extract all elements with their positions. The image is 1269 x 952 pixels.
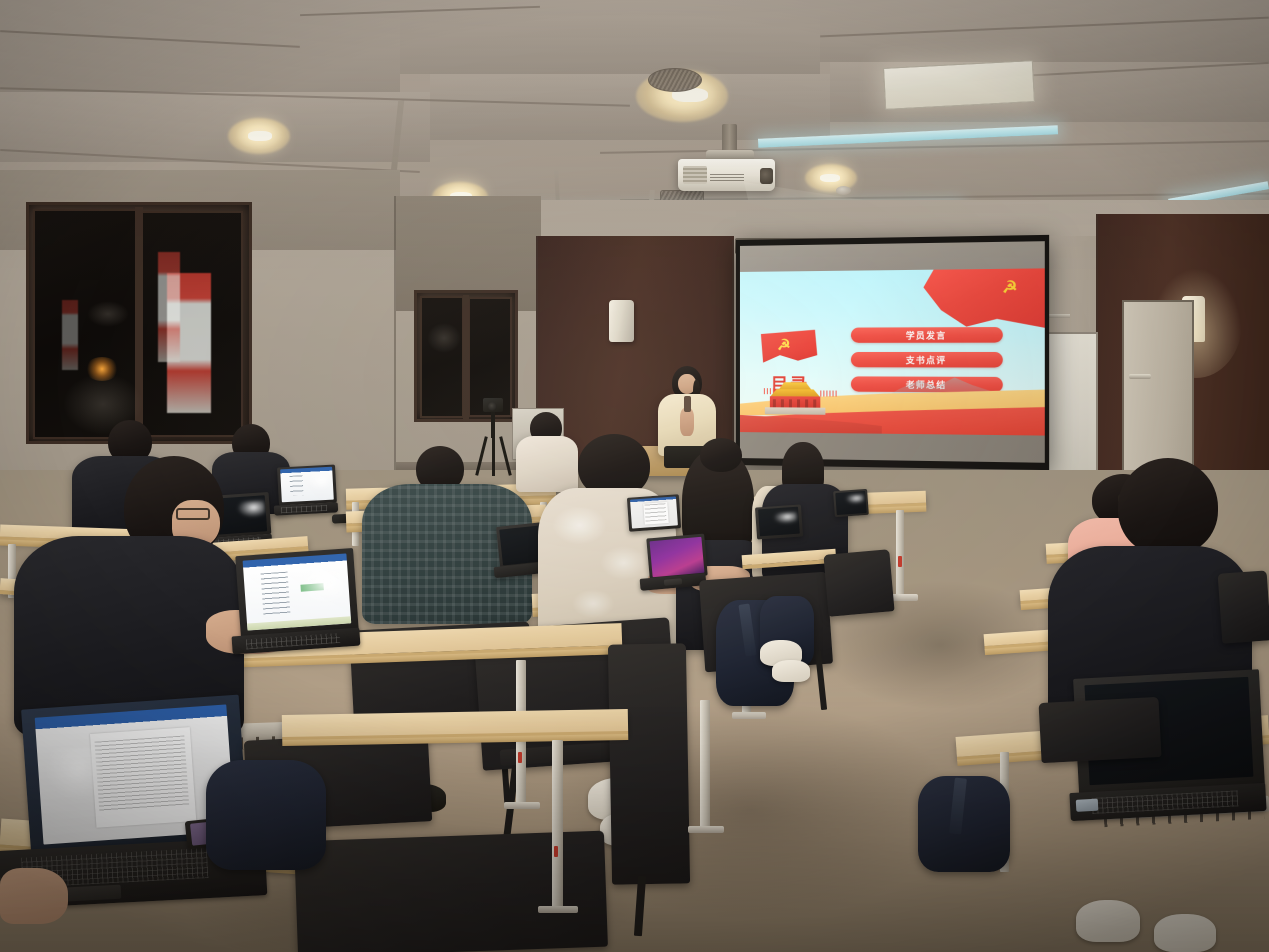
chair-backrest [608,643,690,884]
window-left [26,202,252,444]
screen-glare [237,501,265,519]
tiananmen-base [765,407,826,415]
tripod-leg [499,436,512,476]
laptop-keyboard[interactable] [281,505,327,513]
desk-foot [538,906,578,913]
projector-label [710,172,744,181]
shoe-right-mid-2 [772,660,810,682]
laptop-right-back[interactable] [833,489,869,517]
hair [1118,458,1218,556]
slide-agenda-item-2: 支书点评 [851,352,1003,368]
desk-marker [554,846,558,857]
eyeglasses-icon [176,508,210,520]
desk-marker [898,556,902,567]
laptop-lid [833,489,869,517]
laptop-screen [650,536,704,576]
whiteboard-marker-tray [1048,314,1070,318]
screen-content-rows [260,572,290,617]
student-head-black-tee [1118,458,1218,556]
laptop-center-back[interactable] [627,494,681,532]
tripod-leg [492,436,495,476]
window-reflection-dim [427,323,461,353]
screen-glare [309,474,330,490]
projector-vent [683,166,707,184]
laptop-lid [235,548,358,638]
screen-glare [774,512,797,525]
tripod-leg [475,436,488,476]
chair-far-right[interactable] [1218,570,1269,643]
tiananmen-gate-icon [762,382,829,415]
tripod-camera [474,398,514,478]
window-reflection-slide [158,252,180,362]
tiananmen-flags [764,388,774,394]
slide-agenda-item-1: 学员发言 [851,327,1003,343]
laptop-keyboard[interactable] [1092,790,1239,814]
desk-foot [504,802,540,809]
hair [700,438,742,472]
laptop-screen [243,553,351,631]
chair-backrest [823,549,894,617]
screen-content-rows [289,475,303,496]
recessed-downlight [248,131,272,141]
projection-screen: ☭ ☭ 目录 学员发言 支书点评 老师总结 [736,235,1049,470]
wall-seam [394,196,396,496]
classroom-photo: ☭ ☭ 目录 学员发言 支书点评 老师总结 [0,0,1269,952]
hand-on-trackpad [0,868,68,924]
red-banner-flag-icon [923,268,1044,329]
slide-agenda-list: 学员发言 支书点评 老师总结 [851,327,1003,392]
collar [684,396,691,412]
laptop-lid [277,465,337,506]
window-pane [420,296,464,418]
student-head-right-back [700,438,742,472]
chair-backrest [1218,570,1269,643]
desk-leg [700,700,710,830]
chair-front-right-tall[interactable] [608,643,690,884]
laptop-back-left[interactable] [277,465,337,506]
fluorescent-panel-light [883,60,1035,110]
camera-lens [488,402,497,411]
window-mullion [463,295,469,421]
tiananmen-roof-upper [776,382,814,389]
party-emblem-icon: ☭ [1001,279,1019,297]
desk-foot [688,826,724,833]
laptop-lid [755,504,803,539]
wall-reflection [62,300,78,370]
laptop-keyboard[interactable] [246,633,340,650]
screen-text-lines [644,504,667,522]
desk-leg [896,510,904,596]
laptop-screen [281,467,334,502]
ceiling-tile [820,0,1269,62]
chair-right-back[interactable] [823,549,894,617]
laptop-right-row[interactable] [755,504,803,539]
party-emblem-icon: ☭ [776,338,792,354]
projector-lens [760,168,773,184]
desk-front-center-2 [282,709,628,741]
chair-right-front[interactable] [1039,697,1162,763]
wall-speaker [609,300,634,342]
shoe-right-2 [1154,914,1216,952]
window-reflection-dim [87,301,129,327]
ceiling-air-vent [648,68,702,92]
smoke-detector [836,186,851,195]
hands-clasped [680,408,694,436]
projection-screen-surface: ☭ ☭ 目录 学员发言 支书点评 老师总结 [740,241,1045,463]
laptop-trackpad[interactable] [664,578,682,586]
desk-marker [518,752,522,763]
ceiling-tile [430,74,830,140]
screen-text-lines [94,735,189,812]
laptop-sticker [1076,799,1099,812]
presentation-slide: ☭ ☭ 目录 学员发言 支书点评 老师总结 [740,268,1045,435]
tripod-column [491,412,495,438]
laptop-mid-left[interactable] [235,548,358,638]
desk-foot [732,712,766,719]
shoe-right-1 [1076,900,1140,942]
laptop-lid [627,494,681,532]
chair-backrest [1039,697,1162,763]
laptop-screen [835,491,866,515]
tiananmen-flags [820,390,836,396]
screen-glare [45,746,102,801]
ceiling-tile [400,0,820,74]
backpack-front-left [206,760,326,870]
recessed-downlight [820,174,840,182]
screen-glare [845,494,864,505]
door-handle[interactable] [1129,374,1151,379]
screen-glare [300,569,344,604]
desk-leg [552,740,563,910]
laptop-screen [758,507,800,537]
laptop-screen [630,496,678,528]
